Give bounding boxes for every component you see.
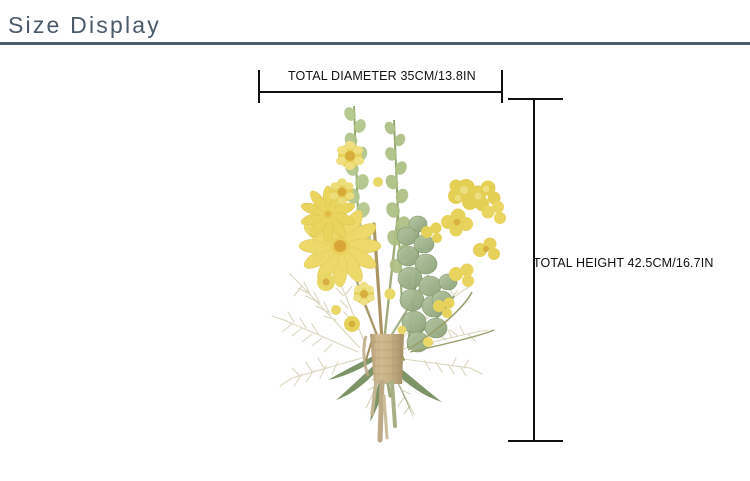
header-divider (0, 42, 750, 45)
page-title: Size Display (8, 10, 161, 40)
height-cap-top (508, 98, 563, 100)
height-cap-bottom (508, 440, 563, 442)
height-line (533, 98, 535, 442)
product-image (232, 96, 522, 446)
height-label: TOTAL HEIGHT 42.5CM/16.7IN (533, 256, 714, 270)
size-display-page: Size Display (0, 0, 750, 481)
diameter-tick-left (258, 70, 260, 103)
diameter-line (258, 91, 503, 93)
diameter-tick-right (501, 70, 503, 103)
bouquet-illustration (232, 96, 522, 446)
diameter-label: TOTAL DIAMETER 35CM/13.8IN (288, 69, 476, 83)
